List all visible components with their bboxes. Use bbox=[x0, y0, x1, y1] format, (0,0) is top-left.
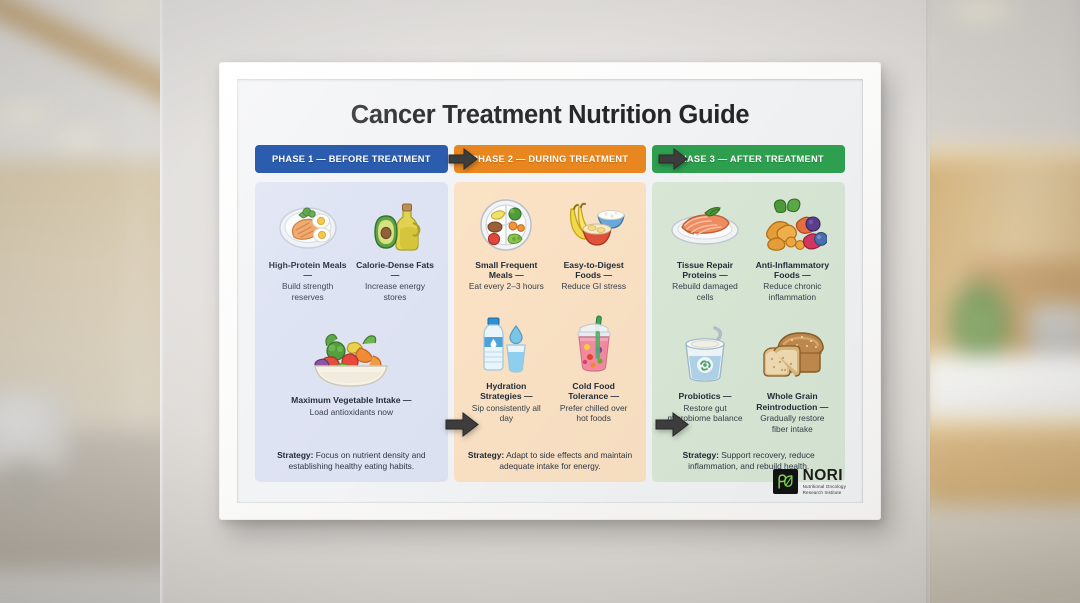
chicken-egg-plate-icon bbox=[267, 194, 348, 256]
whole-grain-bread-icon bbox=[752, 321, 833, 387]
phase-3-items: Tissue Repair Proteins — Rebuild damaged… bbox=[661, 194, 836, 442]
list-item[interactable]: Easy-to-Digest Foods — Reduce GI stress bbox=[552, 194, 635, 299]
item-title: Tissue Repair Proteins — bbox=[664, 260, 745, 281]
list-item[interactable]: Calorie-Dense Fats — Increase energy sto… bbox=[353, 194, 436, 310]
right-arrow-icon bbox=[658, 148, 688, 170]
yogurt-cup-icon bbox=[664, 321, 745, 387]
leaf-logo-icon bbox=[773, 469, 798, 494]
phase-header-3-label: PHASE 3 — AFTER TREATMENT bbox=[674, 154, 824, 164]
smoothie-cup-icon bbox=[553, 311, 634, 377]
logo-name: NORI bbox=[803, 468, 846, 484]
strategy-text-1: Strategy: Focus on nutrient density and … bbox=[264, 441, 439, 472]
item-desc: Prefer chilled over hot foods bbox=[553, 403, 634, 424]
phase-header-1[interactable]: PHASE 1 — BEFORE TREATMENT bbox=[255, 145, 448, 173]
item-desc: Reduce chronic inflammation bbox=[752, 281, 833, 302]
right-arrow-icon bbox=[448, 148, 478, 170]
phase-columns: High-Protein Meals — Build strength rese… bbox=[255, 182, 845, 482]
nutrition-guide-poster: Cancer Treatment Nutrition Guide PHASE 1… bbox=[237, 79, 863, 503]
list-item[interactable]: Anti-Inflammatory Foods — Reduce chronic… bbox=[751, 194, 834, 310]
list-item[interactable]: Whole Grain Reintroduction — Gradually r… bbox=[751, 321, 834, 441]
phase-2-items: Small Frequent Meals — Eat every 2–3 hou… bbox=[463, 194, 638, 431]
phase-header-bar: PHASE 1 — BEFORE TREATMENT PHASE 2 — DUR… bbox=[255, 145, 845, 173]
item-desc: Load antioxidants now bbox=[277, 407, 425, 417]
phase-header-2-label: PHASE 2 — DURING TREATMENT bbox=[472, 154, 629, 164]
avocado-oil-bottle-icon bbox=[354, 194, 435, 256]
banana-rice-porridge-icon bbox=[553, 194, 634, 256]
phase-column-2: Small Frequent Meals — Eat every 2–3 hou… bbox=[454, 182, 647, 482]
list-item[interactable]: High-Protein Meals — Build strength rese… bbox=[266, 194, 349, 310]
logo-subtitle: Nutritional Oncology Research Institute bbox=[803, 484, 846, 496]
right-arrow-icon bbox=[445, 412, 479, 437]
item-desc: Rebuild damaged cells bbox=[664, 281, 745, 302]
logo-text-block: NORI Nutritional Oncology Research Insti… bbox=[803, 468, 846, 496]
picture-frame: Cancer Treatment Nutrition Guide PHASE 1… bbox=[219, 62, 881, 520]
item-desc: Reduce GI stress bbox=[553, 281, 634, 291]
phase-header-1-label: PHASE 1 — BEFORE TREATMENT bbox=[272, 154, 431, 164]
list-item[interactable]: Small Frequent Meals — Eat every 2–3 hou… bbox=[465, 194, 548, 299]
strategy-body: Adapt to side effects and maintain adequ… bbox=[499, 450, 632, 471]
water-bottle-glass-icon bbox=[466, 311, 547, 377]
item-title: Whole Grain Reintroduction — bbox=[752, 391, 833, 412]
item-title: Probiotics — bbox=[664, 391, 745, 401]
phase-column-3: Tissue Repair Proteins — Rebuild damaged… bbox=[652, 182, 845, 482]
item-title: Easy-to-Digest Foods — bbox=[553, 260, 634, 281]
list-item[interactable]: Tissue Repair Proteins — Rebuild damaged… bbox=[663, 194, 746, 310]
item-desc: Gradually restore fiber intake bbox=[752, 413, 833, 434]
phase-1-items: High-Protein Meals — Build strength rese… bbox=[264, 194, 439, 425]
logo-subtitle-line2: Research Institute bbox=[803, 490, 846, 496]
list-item[interactable]: Maximum Vegetable Intake — Load antioxid… bbox=[276, 325, 426, 424]
poster-mat: Cancer Treatment Nutrition Guide PHASE 1… bbox=[237, 79, 863, 503]
strategy-label: Strategy: bbox=[468, 450, 504, 460]
item-title: Hydration Strategies — bbox=[466, 381, 547, 402]
item-desc: Increase energy stores bbox=[354, 281, 435, 302]
salmon-fillet-plate-icon bbox=[664, 194, 745, 256]
page-title: Cancer Treatment Nutrition Guide bbox=[253, 103, 847, 129]
list-item[interactable]: Cold Food Tolerance — Prefer chilled ove… bbox=[552, 311, 635, 431]
item-title: High-Protein Meals — bbox=[267, 260, 348, 281]
item-title: Cold Food Tolerance — bbox=[553, 381, 634, 402]
turmeric-berries-icon bbox=[752, 194, 833, 256]
vegetable-bowl-icon bbox=[277, 325, 425, 391]
item-title: Small Frequent Meals — bbox=[466, 260, 547, 281]
item-title: Calorie-Dense Fats — bbox=[354, 260, 435, 281]
item-desc: Build strength reserves bbox=[267, 281, 348, 302]
item-title: Maximum Vegetable Intake — bbox=[277, 395, 425, 405]
nori-logo: NORI Nutritional Oncology Research Insti… bbox=[773, 468, 846, 496]
right-arrow-icon bbox=[655, 412, 689, 437]
divided-meal-tray-icon bbox=[466, 194, 547, 256]
phase-column-1: High-Protein Meals — Build strength rese… bbox=[255, 182, 448, 482]
phase-header-2[interactable]: PHASE 2 — DURING TREATMENT bbox=[454, 145, 647, 173]
strategy-label: Strategy: bbox=[277, 450, 313, 460]
item-desc: Eat every 2–3 hours bbox=[466, 281, 547, 291]
strategy-label: Strategy: bbox=[683, 450, 719, 460]
item-title: Anti-Inflammatory Foods — bbox=[752, 260, 833, 281]
strategy-text-2: Strategy: Adapt to side effects and main… bbox=[463, 441, 638, 472]
